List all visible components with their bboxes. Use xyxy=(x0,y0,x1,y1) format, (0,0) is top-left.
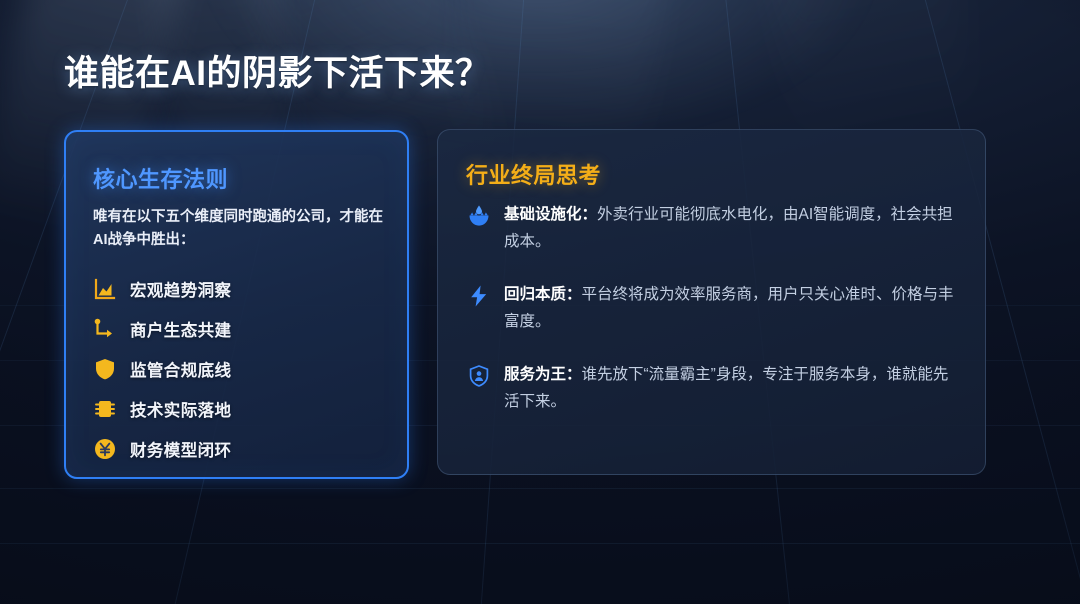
bar-chart-icon xyxy=(90,274,120,304)
list-item[interactable]: 监管合规底线 xyxy=(90,349,391,388)
list-item-label: 技术实际落地 xyxy=(130,397,231,421)
rules-list: 宏观趋势洞察 商户生态共建 监管合规底线 xyxy=(90,269,391,469)
list-item-text: 回归本质：平台终将成为效率服务商，用户只关心准时、价格与丰富度。 xyxy=(504,282,961,336)
page-title: 谁能在AI的阴影下活下来？ xyxy=(64,45,491,96)
list-item-label: 财务模型闭环 xyxy=(130,437,231,461)
list-item-lead: 回归本质： xyxy=(504,286,582,303)
grid-line-diagonal xyxy=(0,0,61,604)
water-drop-icon xyxy=(466,203,492,229)
list-item[interactable]: 商户生态共建 xyxy=(90,309,391,348)
yen-coin-icon xyxy=(90,434,120,464)
list-item[interactable]: 宏观趋势洞察 xyxy=(90,269,391,308)
left-card-title: 核心生存法则 xyxy=(93,162,228,194)
list-item[interactable]: 财务模型闭环 xyxy=(90,429,391,468)
grid-line-diagonal xyxy=(1010,0,1080,604)
shield-user-icon xyxy=(466,363,492,389)
slide-root: 谁能在AI的阴影下活下来？ 核心生存法则 唯有在以下五个维度同时跑通的公司，才能… xyxy=(0,0,1080,604)
industry-endgame-card: 行业终局思考 基础设施化：外卖 xyxy=(437,129,986,475)
list-item[interactable]: 基础设施化：外卖行业可能彻底水电化，由AI智能调度，社会共担成本。 xyxy=(466,202,961,256)
grid-line-horizontal xyxy=(0,543,1080,544)
right-card-title: 行业终局思考 xyxy=(466,158,601,190)
shield-icon xyxy=(90,354,120,384)
arrow-turn-icon xyxy=(90,314,120,344)
left-card-subtitle: 唯有在以下五个维度同时跑通的公司，才能在AI战争中胜出： xyxy=(93,206,393,253)
list-item-lead: 服务为王： xyxy=(504,366,582,383)
lightning-bolt-icon xyxy=(466,283,492,309)
list-item-text: 基础设施化：外卖行业可能彻底水电化，由AI智能调度，社会共担成本。 xyxy=(504,202,961,256)
list-item-lead: 基础设施化： xyxy=(504,206,597,223)
list-item-label: 宏观趋势洞察 xyxy=(130,277,231,301)
core-survival-rules-card: 核心生存法则 唯有在以下五个维度同时跑通的公司，才能在AI战争中胜出： 宏观趋势… xyxy=(64,130,409,479)
grid-line-horizontal xyxy=(0,488,1080,489)
list-item-label: 监管合规底线 xyxy=(130,357,231,381)
list-item[interactable]: 服务为王：谁先放下“流量霸主”身段，专注于服务本身，谁就能先活下来。 xyxy=(466,362,961,416)
endgame-list: 基础设施化：外卖行业可能彻底水电化，由AI智能调度，社会共担成本。 回归本质：平… xyxy=(466,202,961,442)
list-item-text: 服务为王：谁先放下“流量霸主”身段，专注于服务本身，谁就能先活下来。 xyxy=(504,362,961,416)
list-item[interactable]: 技术实际落地 xyxy=(90,389,391,428)
list-item[interactable]: 回归本质：平台终将成为效率服务商，用户只关心准时、价格与丰富度。 xyxy=(466,282,961,336)
list-item-label: 商户生态共建 xyxy=(130,317,231,341)
chip-icon xyxy=(90,394,120,424)
